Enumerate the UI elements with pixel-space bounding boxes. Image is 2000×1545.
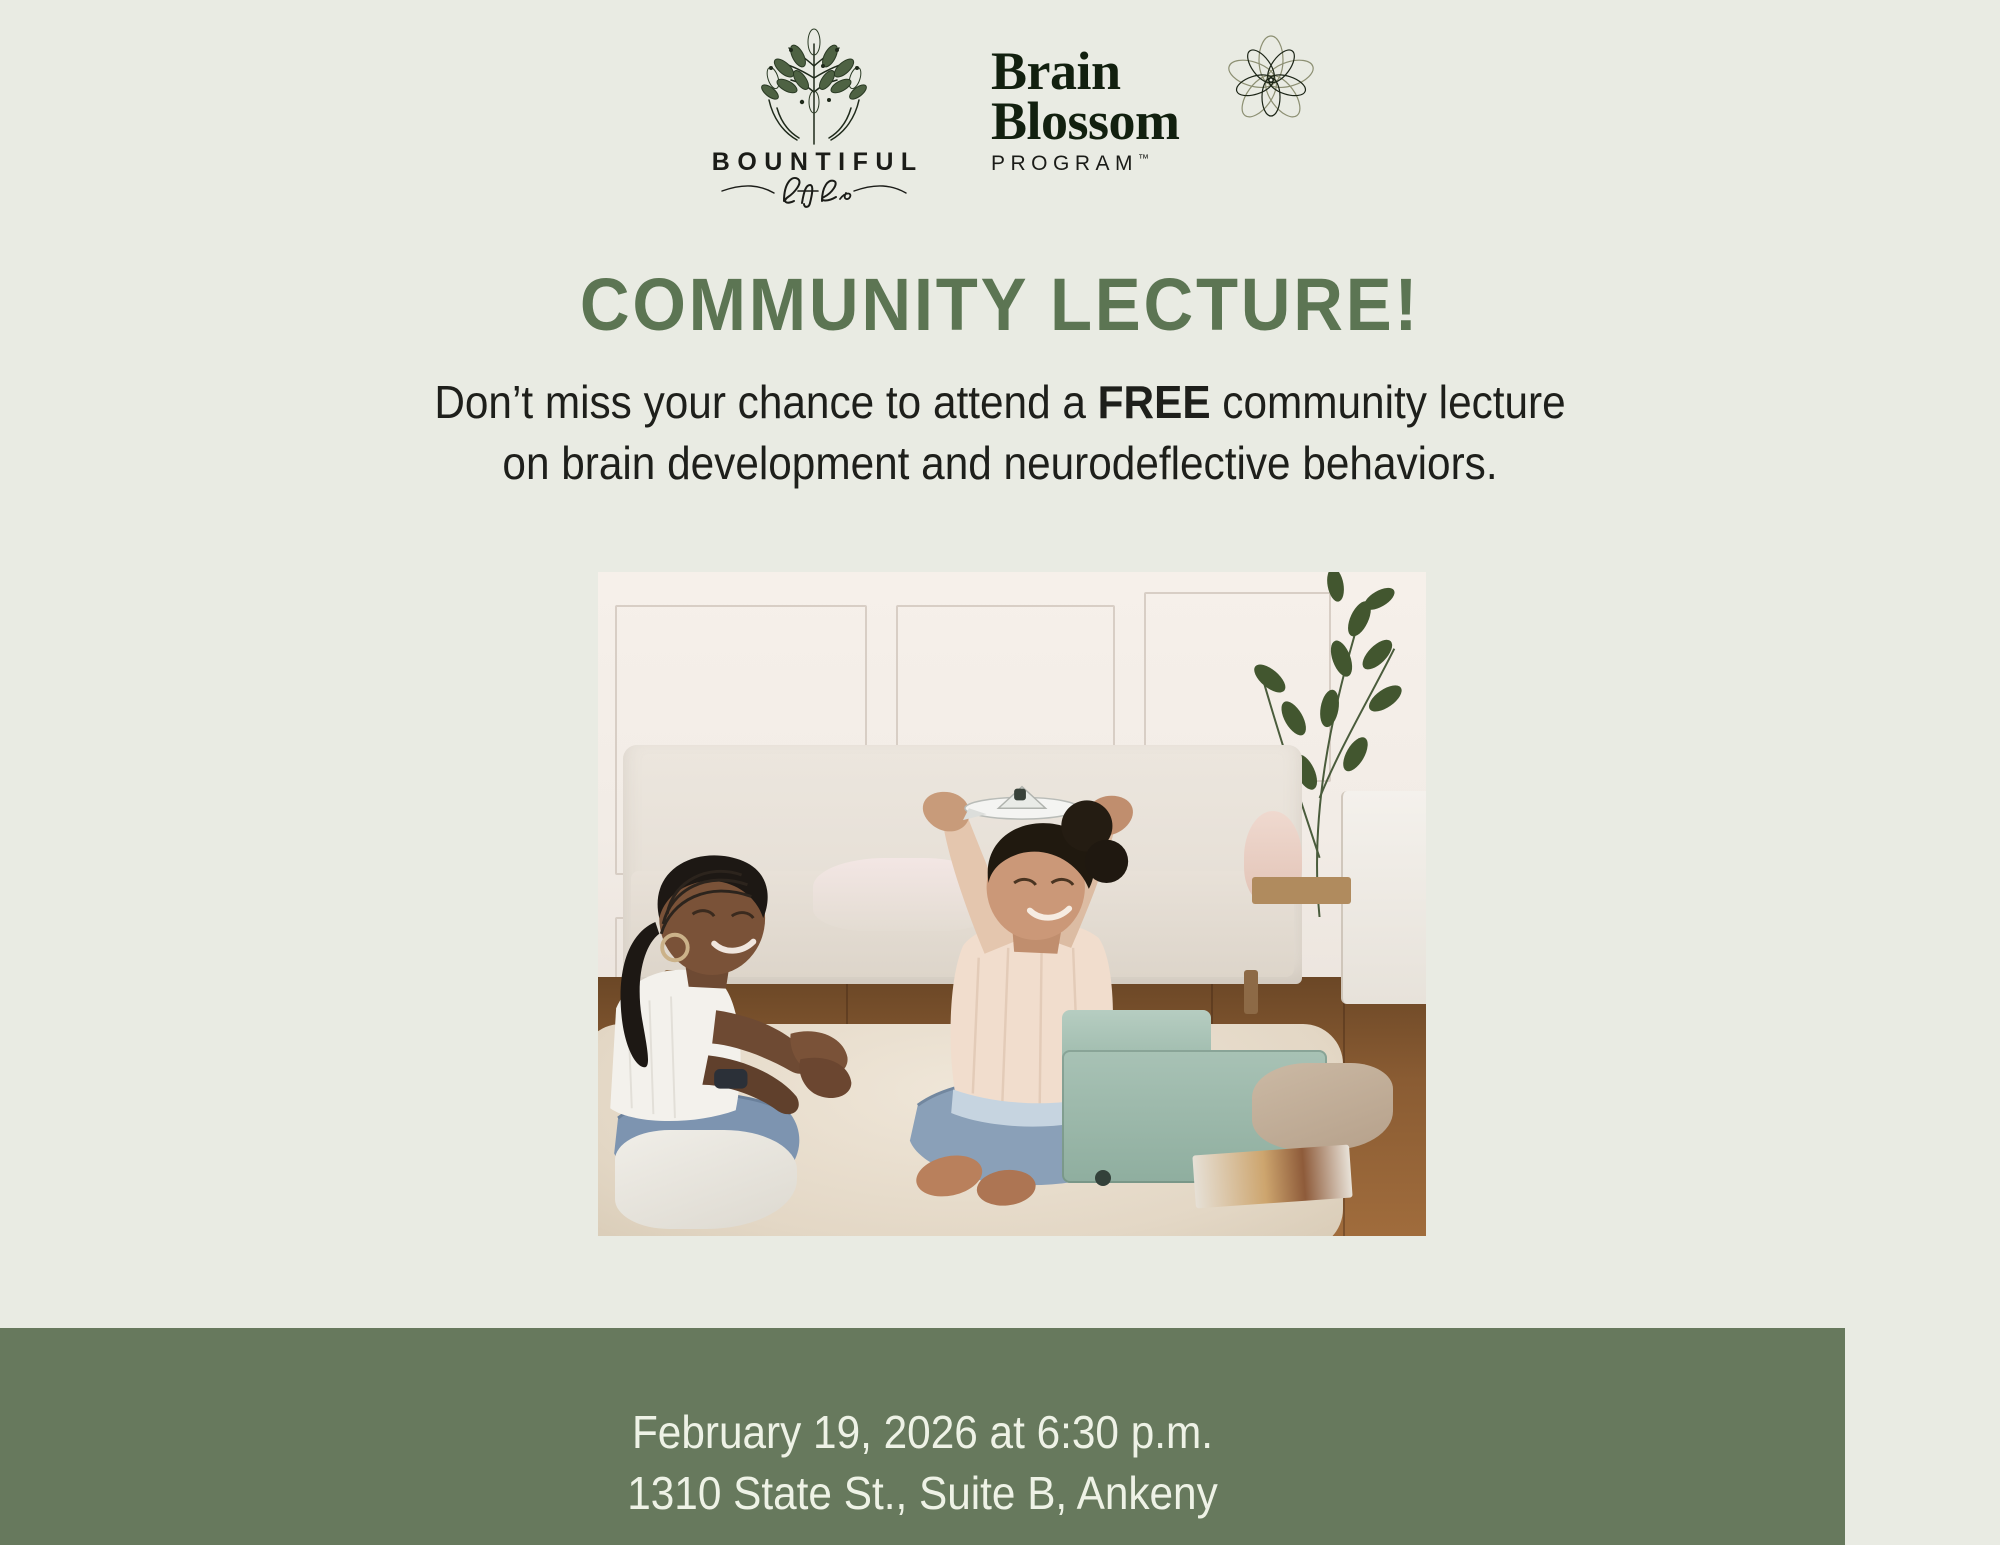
- sofa-leg: [1244, 970, 1258, 1014]
- brain-blossom-logo: Brain Blossom PROGRAM™: [991, 18, 1321, 176]
- bountiful-script-life: [714, 171, 914, 209]
- subtitle-text: Don’t miss your chance to attend a FREE …: [80, 372, 1920, 494]
- logo-row: BOUNTIFUL: [0, 18, 2000, 208]
- bountiful-life-logo: BOUNTIFUL: [679, 18, 949, 209]
- suitcase-wheel: [1095, 1170, 1111, 1186]
- event-address: 1310 State St., Suite B, Ankeny: [74, 1463, 1771, 1524]
- footer-details: February 19, 2026 at 6:30 p.m. 1310 Stat…: [74, 1402, 1771, 1523]
- program-word: PROGRAM: [991, 152, 1138, 175]
- brain-blossom-program-label: PROGRAM™: [991, 152, 1321, 176]
- event-datetime: February 19, 2026 at 6:30 p.m.: [74, 1402, 1771, 1463]
- trademark-mark: ™: [1138, 153, 1149, 165]
- poster-canvas: BOUNTIFUL: [0, 0, 2000, 1545]
- tree-icon: [739, 22, 889, 154]
- event-photo: [598, 572, 1426, 1236]
- photo-scene: [598, 572, 1426, 1236]
- blossom-flower-icon: [1223, 32, 1319, 128]
- wooden-side-table: [1252, 877, 1351, 904]
- footer-band: February 19, 2026 at 6:30 p.m. 1310 Stat…: [0, 1328, 1845, 1545]
- subtitle-line2: on brain development and neurodeflective…: [502, 437, 1497, 489]
- subtitle-free-emphasis: FREE: [1098, 376, 1211, 428]
- subtitle-line1-part-b: community lecture: [1211, 376, 1566, 428]
- subtitle-line1-part-a: Don’t miss your chance to attend a: [434, 376, 1097, 428]
- folded-cloth-left: [615, 1130, 797, 1230]
- page-title: COMMUNITY LECTURE!: [70, 262, 1930, 347]
- folded-cloth-right: [1252, 1063, 1393, 1149]
- magazine-on-floor: [1192, 1144, 1353, 1208]
